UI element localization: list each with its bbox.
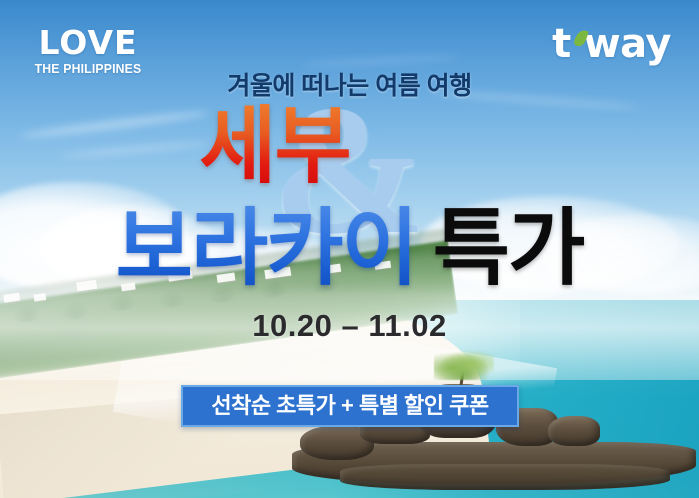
promotion-banner: LOVE THE PHILIPPINES tway 겨울에 떠나는 여름 여행 … — [0, 0, 699, 498]
promotion-date-range: 10.20 – 11.02 — [0, 308, 699, 344]
cta-banner[interactable]: 선착순 초특가 + 특별 할인 쿠폰 — [181, 385, 519, 427]
tway-logo-t: t — [552, 21, 571, 67]
title-boracay-text: 보라카이 — [116, 201, 417, 295]
reef-rock — [340, 464, 670, 490]
rock — [548, 416, 600, 446]
title-line-cebu: 세부 — [0, 104, 699, 188]
cta-label: 선착순 초특가 + 특별 할인 쿠폰 — [211, 395, 488, 417]
rock-tree-crown — [434, 350, 494, 380]
tway-logo-way: way — [584, 21, 671, 67]
tway-air-logo: tway — [552, 24, 671, 64]
title-cebu-text: 세부 — [199, 99, 350, 193]
title-deal-text: 특가 — [433, 201, 584, 295]
title-line-boracay: 보라카이특가 — [0, 206, 699, 290]
logo-love-text: LOVE — [30, 26, 146, 59]
